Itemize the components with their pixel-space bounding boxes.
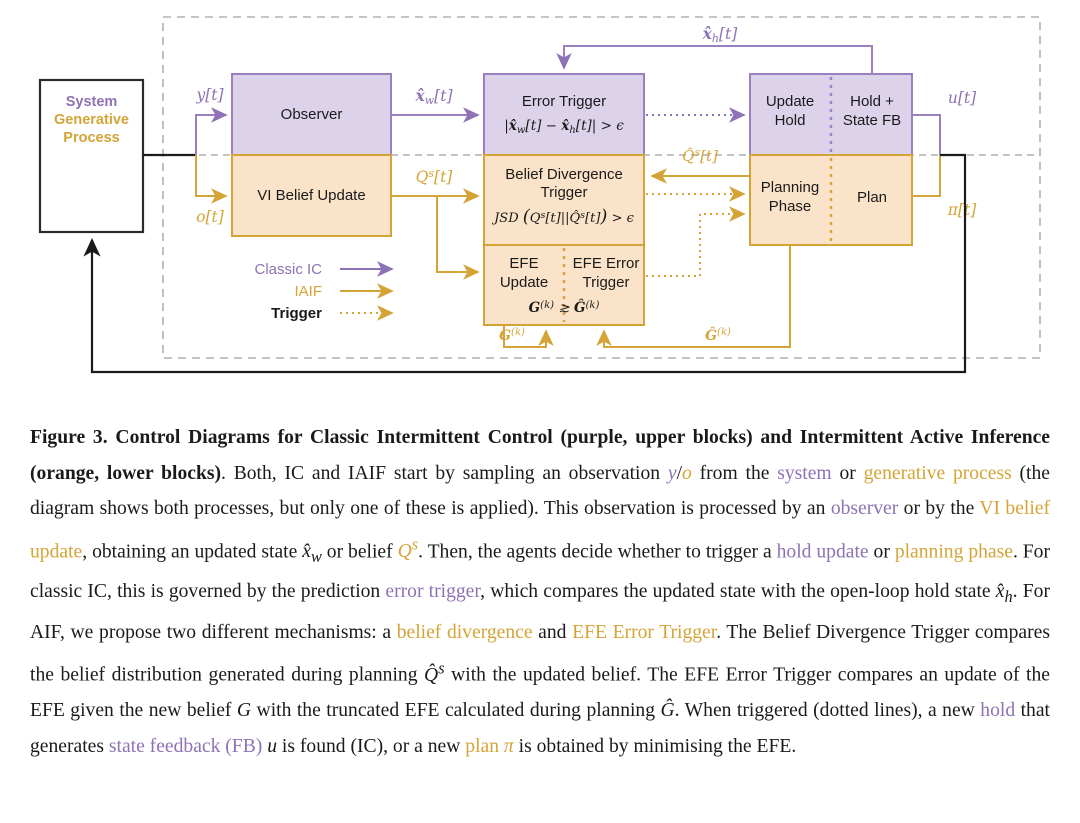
signal-pi-path — [912, 155, 940, 196]
plant-label-process: Process — [63, 130, 119, 146]
plant-label-system: System — [66, 94, 118, 110]
signal-o-path — [196, 155, 226, 196]
hold-state-fb-line1: Hold + — [850, 93, 894, 110]
signal-u-label: u[t] — [948, 89, 977, 107]
plant-label-generative: Generative — [54, 112, 129, 128]
signal-u-path — [912, 115, 940, 155]
update-hold-line2: Hold — [775, 112, 806, 129]
legend-label-classic-ic: Classic IC — [254, 261, 322, 278]
observer-label: Observer — [281, 106, 343, 123]
signal-Qs-label: Qs[t] — [416, 167, 454, 186]
vi-belief-update-label: VI Belief Update — [257, 187, 365, 204]
hold-state-fb-line2: State FB — [843, 112, 901, 129]
legend-label-iaif: IAIF — [294, 283, 322, 300]
efe-update-line1: EFE — [509, 255, 538, 272]
belief-divergence-title-line2: Trigger — [541, 184, 588, 201]
signal-o-label: o[t] — [196, 208, 225, 226]
efe-error-trigger-line1: EFE Error — [573, 255, 640, 272]
legend-label-trigger: Trigger — [271, 305, 322, 322]
belief-divergence-title-line1: Belief Divergence — [505, 166, 623, 183]
plan-label: Plan — [857, 189, 887, 206]
signal-y-path — [196, 115, 226, 155]
figure-diagram: System Generative Process Observer VI Be… — [0, 0, 1080, 400]
update-hold-line1: Update — [766, 93, 814, 110]
signal-xhat-w-label: x̂w[t] — [415, 86, 454, 107]
signal-Qhat-s-label: Q̂s[t] — [682, 146, 718, 165]
trigger-efe-error-to-planning — [646, 214, 744, 276]
error-trigger-block — [484, 74, 644, 155]
efe-update-line2: Update — [500, 274, 548, 291]
figure-caption: Figure 3. Control Diagrams for Classic I… — [30, 420, 1050, 764]
signal-Ghat-k-label: Ĝ(k) — [705, 326, 731, 344]
signal-G-k-label: G(k) — [499, 327, 525, 344]
signal-pi-label: π[t] — [947, 201, 977, 219]
error-trigger-title: Error Trigger — [522, 93, 606, 110]
caption-figure-label: Figure 3. — [30, 427, 108, 448]
efe-error-trigger-line2: Trigger — [583, 274, 630, 291]
signal-y-label: y[t] — [195, 86, 224, 104]
signal-xhat-h-label: x̂h[t] — [702, 24, 739, 45]
signal-Qs-to-efe-update — [437, 196, 478, 272]
planning-phase-line2: Phase — [769, 198, 812, 215]
planning-phase-line1: Planning — [761, 179, 819, 196]
signal-xhat-h-feedback — [564, 46, 872, 74]
